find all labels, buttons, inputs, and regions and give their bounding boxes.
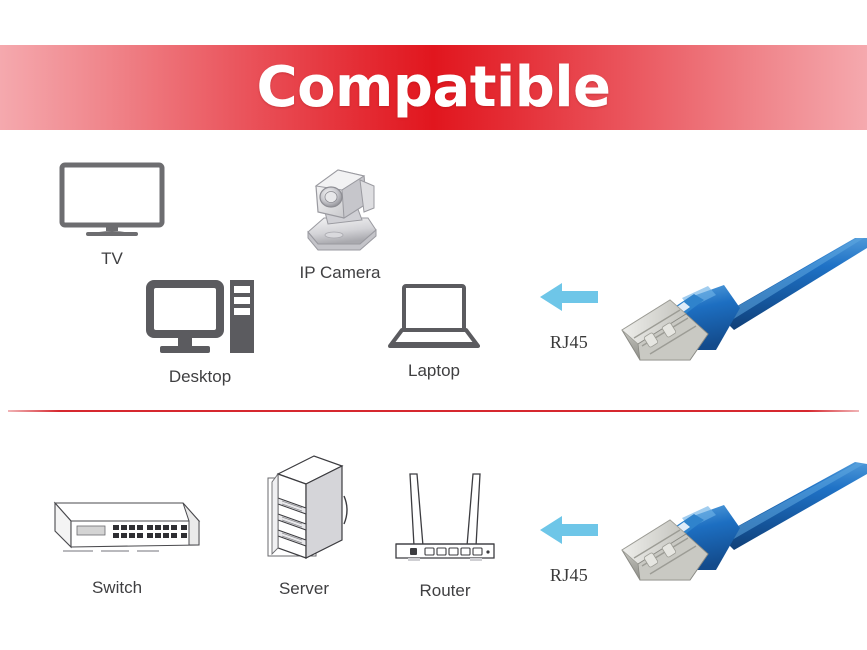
device-tv: TV (58, 162, 166, 269)
device-label-laptop: Laptop (408, 361, 460, 381)
device-label-tv: TV (101, 249, 123, 269)
device-label-switch: Switch (92, 578, 142, 598)
server-rack-icon (258, 452, 350, 573)
device-label-router: Router (419, 581, 470, 601)
page-title: Compatible (256, 60, 610, 116)
device-label-server: Server (279, 579, 329, 599)
ethernet-cable-rj45-icon-top (612, 238, 867, 373)
device-laptop: Laptop (388, 284, 480, 381)
rj45-connector-top: RJ45 (538, 280, 600, 353)
laptop-icon (388, 284, 480, 355)
section-divider (8, 410, 859, 412)
device-desktop: Desktop (144, 278, 256, 387)
compatible-banner: Compatible (0, 45, 867, 130)
device-ip-camera: IP Camera (294, 160, 386, 283)
tv-icon (58, 162, 166, 243)
desktop-computer-icon (144, 278, 256, 361)
arrow-left-icon (538, 280, 600, 319)
ip-camera-icon (294, 160, 386, 257)
device-router: Router (390, 460, 500, 601)
network-switch-icon (33, 495, 201, 572)
rj45-label-bottom: RJ45 (550, 565, 588, 586)
device-server: Server (258, 452, 350, 599)
device-label-ip-camera: IP Camera (300, 263, 381, 283)
ethernet-cable-rj45-icon-bottom (612, 458, 867, 593)
wifi-router-icon (390, 460, 500, 575)
device-label-desktop: Desktop (169, 367, 231, 387)
rj45-label-top: RJ45 (550, 332, 588, 353)
device-switch: Switch (33, 495, 201, 598)
arrow-left-icon (538, 513, 600, 552)
rj45-connector-bottom: RJ45 (538, 513, 600, 586)
